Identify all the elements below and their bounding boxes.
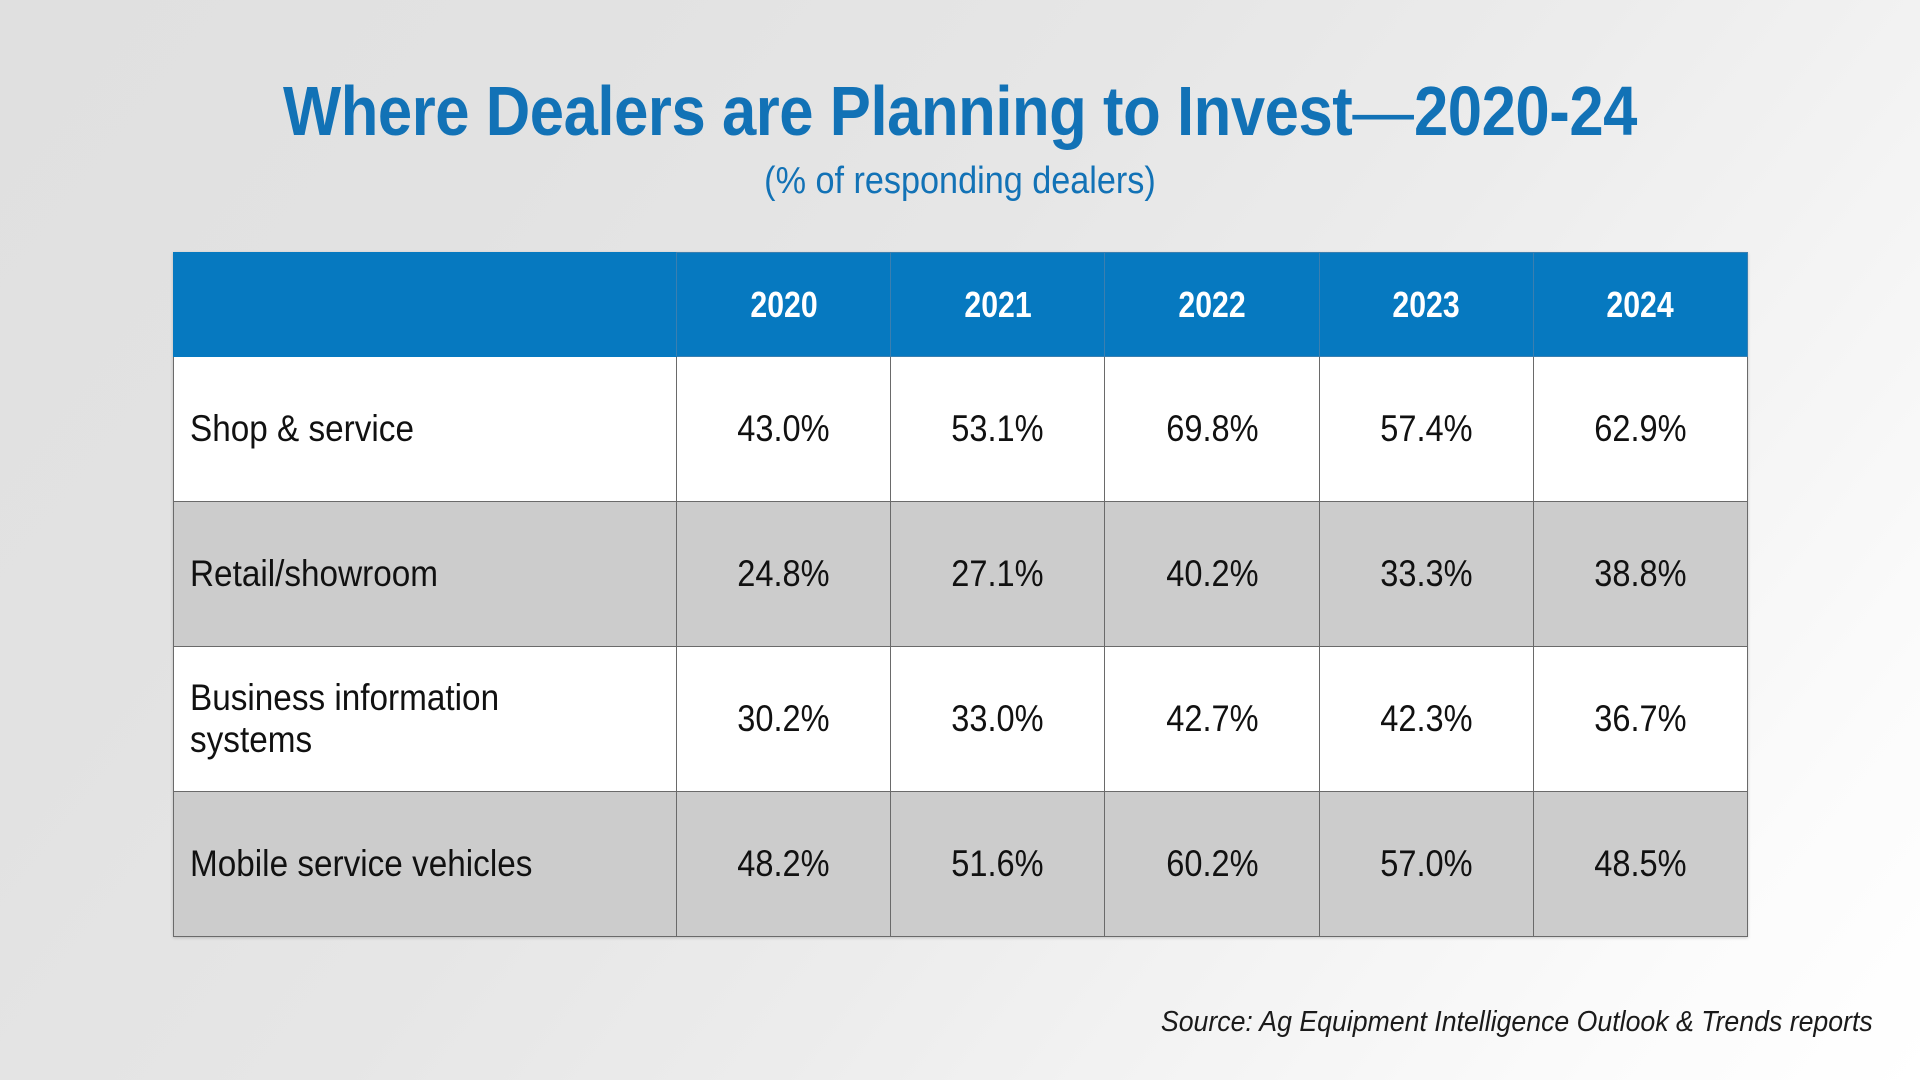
table-row: Retail/showroom 24.8% 27.1% 40.2% 33.3% … [174,502,1748,647]
value-text: 42.3% [1380,698,1472,740]
column-header-2021-label: 2021 [964,284,1031,326]
value-cell: 69.8% [1105,357,1319,502]
value-text: 69.8% [1166,408,1258,450]
value-cell: 42.3% [1319,647,1533,792]
row-label-cell: Mobile service vehicles [174,792,677,937]
value-cell: 38.8% [1533,502,1747,647]
table-header-row: 2020 2021 2022 2023 2024 [174,253,1748,357]
column-header-2022-label: 2022 [1178,284,1245,326]
row-label-cell: Retail/showroom [174,502,677,647]
table-row: Shop & service 43.0% 53.1% 69.8% 57.4% 6… [174,357,1748,502]
value-text: 48.5% [1594,843,1686,885]
title-block: Where Dealers are Planning to Invest—202… [0,72,1920,204]
value-text: 48.2% [737,843,829,885]
value-cell: 33.0% [891,647,1105,792]
row-label-text: Business information systems [190,677,627,761]
infographic-canvas: Where Dealers are Planning to Invest—202… [0,0,1920,1080]
value-text: 30.2% [737,698,829,740]
value-text: 53.1% [952,408,1044,450]
column-header-2023-label: 2023 [1393,284,1460,326]
value-text: 27.1% [952,553,1044,595]
value-cell: 42.7% [1105,647,1319,792]
value-text: 24.8% [737,553,829,595]
row-label-text: Shop & service [190,408,414,450]
row-label-text: Mobile service vehicles [190,843,532,885]
value-text: 60.2% [1166,843,1258,885]
column-header-2024-label: 2024 [1607,284,1674,326]
value-text: 43.0% [737,408,829,450]
value-cell: 30.2% [677,647,891,792]
table-row: Mobile service vehicles 48.2% 51.6% 60.2… [174,792,1748,937]
page-title-years: 2020-24 [1414,72,1637,150]
value-cell: 36.7% [1533,647,1747,792]
value-cell: 48.5% [1533,792,1747,937]
column-header-2022: 2022 [1105,253,1319,357]
column-header-2023: 2023 [1319,253,1533,357]
value-cell: 57.0% [1319,792,1533,937]
value-text: 57.4% [1380,408,1472,450]
value-cell: 24.8% [677,502,891,647]
value-cell: 27.1% [891,502,1105,647]
value-text: 40.2% [1166,553,1258,595]
column-header-2020: 2020 [677,253,891,357]
page-title-main: Where Dealers are Planning to Invest [283,72,1352,150]
value-cell: 43.0% [677,357,891,502]
page-subtitle: (% of responding dealers) [96,158,1824,204]
value-cell: 53.1% [891,357,1105,502]
value-cell: 33.3% [1319,502,1533,647]
source-note: Source: Ag Equipment Intelligence Outloo… [1161,1006,1873,1039]
table-body: Shop & service 43.0% 53.1% 69.8% 57.4% 6… [174,357,1748,937]
column-header-2024: 2024 [1533,253,1747,357]
invest-table: 2020 2021 2022 2023 2024 Shop & service … [173,252,1748,937]
page-title: Where Dealers are Planning to Invest—202… [115,72,1805,150]
value-text: 38.8% [1594,553,1686,595]
value-text: 57.0% [1380,843,1472,885]
value-cell: 57.4% [1319,357,1533,502]
page-title-dash: — [1352,72,1414,150]
table-head: 2020 2021 2022 2023 2024 [174,253,1748,357]
value-cell: 48.2% [677,792,891,937]
invest-table-container: 2020 2021 2022 2023 2024 Shop & service … [173,252,1747,937]
value-text: 51.6% [952,843,1044,885]
row-label-cell: Shop & service [174,357,677,502]
row-label-cell: Business information systems [174,647,677,792]
value-cell: 40.2% [1105,502,1319,647]
row-label-text: Retail/showroom [190,553,438,595]
column-header-2021: 2021 [891,253,1105,357]
value-text: 62.9% [1594,408,1686,450]
value-cell: 51.6% [891,792,1105,937]
table-row: Business information systems 30.2% 33.0%… [174,647,1748,792]
value-cell: 62.9% [1533,357,1747,502]
column-header-blank [174,253,677,357]
value-text: 33.0% [952,698,1044,740]
value-cell: 60.2% [1105,792,1319,937]
value-text: 42.7% [1166,698,1258,740]
value-text: 33.3% [1380,553,1472,595]
value-text: 36.7% [1594,698,1686,740]
column-header-2020-label: 2020 [750,284,817,326]
